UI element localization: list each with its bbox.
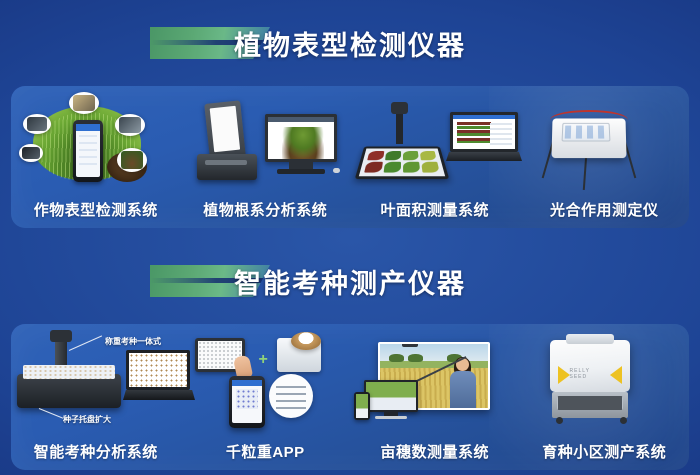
callout-leader-line: [69, 335, 102, 351]
section-title-2: 智能考种测产仪器: [0, 258, 700, 304]
scanner-lid: [204, 100, 246, 159]
product-card-ear-count[interactable]: 亩穗数测量系统: [350, 324, 520, 470]
laptop: [446, 112, 520, 160]
art-root-scanner: [181, 92, 351, 192]
product-panel-2: 称重考种一体式 种子托盘扩大 智能考种分析系统 +: [11, 324, 689, 470]
root-image: [282, 127, 324, 159]
scanner-base: [197, 154, 257, 180]
seed-bowl: [291, 332, 321, 350]
art-tgw-app: +: [181, 330, 351, 434]
caster-wheel: [556, 417, 563, 424]
section-title-text-2: 智能考种测产仪器: [0, 258, 700, 304]
plus-icon: +: [259, 352, 268, 368]
bubble-icon-device: [23, 114, 51, 134]
product-row-2: 称重考种一体式 种子托盘扩大 智能考种分析系统 +: [11, 324, 689, 470]
product-card-crop-phenotype[interactable]: 作物表型检测系统: [11, 86, 181, 228]
result-callout-bubble: [269, 374, 313, 418]
product-caption: 叶面积测量系统: [380, 199, 489, 228]
art-seed-analyzer: 称重考种一体式 种子托盘扩大: [11, 330, 181, 434]
callout-label-1: 称重考种一体式: [105, 336, 161, 347]
product-card-seed-analyzer[interactable]: 称重考种一体式 种子托盘扩大 智能考种分析系统: [11, 324, 181, 470]
monitor-screen: [265, 114, 337, 162]
sensor-head: [402, 342, 418, 347]
poster-root: 植物表型检测仪器 作物表型检测系统: [0, 0, 700, 475]
product-caption: 光合作用测定仪: [550, 199, 659, 228]
art-leaf-area: [350, 92, 520, 192]
product-card-plot-yield[interactable]: RELLY SEED 育种小区测产系统: [520, 324, 690, 470]
product-card-root-scanner[interactable]: 植物根系分析系统: [181, 86, 351, 228]
harvester-cabinet: RELLY SEED: [550, 340, 630, 392]
product-caption: 育种小区测产系统: [542, 441, 666, 470]
callout-label-2: 种子托盘扩大: [63, 414, 111, 425]
smartphone-app-image: [73, 120, 103, 182]
bubble-icon-scanner: [69, 92, 99, 114]
mouse-icon: [333, 168, 340, 173]
smartphone-tgw-app: [229, 376, 265, 428]
product-row-1: 作物表型检测系统 植物根系分析系统: [11, 86, 689, 228]
bubble-icon-sensor: [115, 114, 145, 136]
product-caption: 植物根系分析系统: [203, 199, 327, 228]
leaf-tray: [355, 147, 450, 180]
product-card-leaf-area[interactable]: 叶面积测量系统: [350, 86, 520, 228]
bubble-icon-camera: [19, 144, 43, 162]
product-caption: 千粒重APP: [226, 441, 305, 470]
bubble-icon-field: [117, 148, 147, 172]
callout-leader-line: [39, 408, 63, 419]
art-ear-count: [350, 330, 520, 434]
operator-person: [448, 358, 482, 408]
seed-tray-bed: [17, 374, 121, 408]
product-card-tgw-app[interactable]: + 千粒重APP: [181, 324, 351, 470]
product-caption: 智能考种分析系统: [34, 441, 158, 470]
desktop-and-phone: [356, 380, 418, 420]
camera-post: [396, 110, 403, 144]
product-panel-1: 作物表型检测系统 植物根系分析系统: [11, 86, 689, 228]
product-caption: 作物表型检测系统: [34, 199, 158, 228]
instrument-screen: [561, 123, 610, 142]
art-plot-yield: RELLY SEED: [520, 330, 690, 434]
machine-brand-label: RELLY SEED: [570, 368, 610, 380]
art-crop-phenotype: [11, 92, 181, 192]
product-caption: 亩穗数测量系统: [380, 441, 489, 470]
art-photosynthesis: [520, 92, 690, 192]
caster-wheel: [620, 417, 627, 424]
monitor-stand: [289, 162, 313, 169]
camera-head: [391, 102, 408, 114]
leaf-samples: [364, 151, 440, 173]
section-title-text-1: 植物表型检测仪器: [0, 20, 700, 66]
machine-stand: [552, 392, 628, 418]
product-card-photosynthesis[interactable]: 光合作用测定仪: [520, 86, 690, 228]
section-title-1: 植物表型检测仪器: [0, 20, 700, 66]
monitor-foot: [277, 169, 325, 174]
